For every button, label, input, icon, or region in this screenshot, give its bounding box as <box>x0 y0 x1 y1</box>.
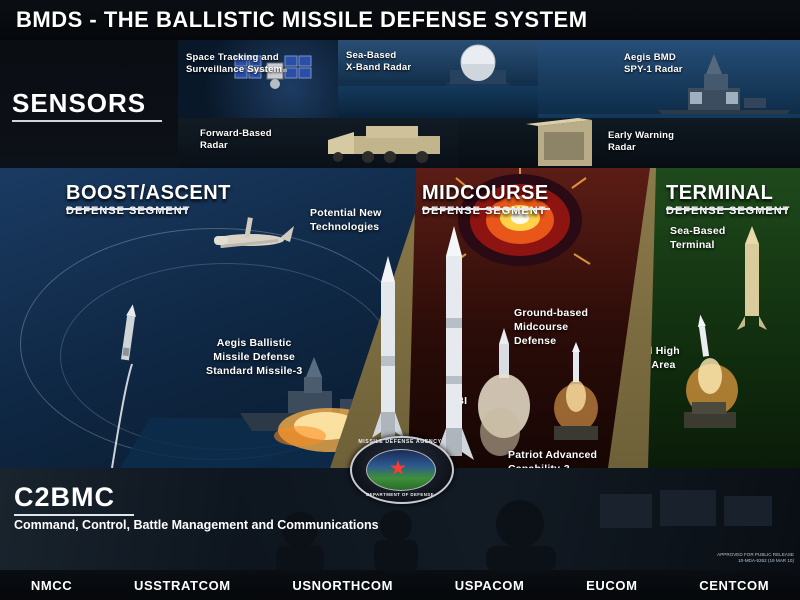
footer-item-centcom: CENTCOM <box>699 578 769 593</box>
segment-title-midcourse: MIDCOURSE DEFENSE SEGMENT <box>422 182 549 217</box>
footer-item-nmcc: NMCC <box>31 578 72 593</box>
sea-based-terminal-missile-icon <box>737 226 767 330</box>
sensor-caption-sbx: Sea-Based X-Band Radar <box>346 50 411 74</box>
sensors-heading-rule <box>12 120 162 122</box>
bmds-infographic: BMDS - THE BALLISTIC MISSILE DEFENSE SYS… <box>0 0 800 600</box>
footer-item-usstratcom: USSTRATCOM <box>134 578 231 593</box>
sensor-caption-stss: Space Tracking and Surveillance System <box>186 52 282 76</box>
c2bmc-rule <box>14 514 134 516</box>
sm3-missile-icon <box>358 256 418 456</box>
title-bar: BMDS - THE BALLISTIC MISSILE DEFENSE SYS… <box>0 0 800 40</box>
gbi-missile-icon <box>420 226 490 468</box>
sensors-heading: SENSORS <box>12 88 146 119</box>
segment-title-boost: BOOST/ASCENT DEFENSE SEGMENT <box>66 182 231 217</box>
mda-seal: MISSILE DEFENSE AGENCY DEPARTMENT OF DEF… <box>350 436 450 500</box>
asset-label-aegis-bmd-sm3: Aegis Ballistic Missile Defense Standard… <box>206 336 302 378</box>
seal-bottom-text: DEPARTMENT OF DEFENSE <box>350 492 450 497</box>
sensor-caption-aegis: Aegis BMD SPY-1 Radar <box>624 52 683 76</box>
asset-label-gmd: Ground-based Midcourse Defense <box>514 306 588 348</box>
seal-top-text: MISSILE DEFENSE AGENCY <box>350 439 450 445</box>
uav-icon <box>214 217 294 248</box>
defense-segments: BOOST/ASCENT DEFENSE SEGMENT Potential N… <box>0 168 800 468</box>
patriot-pac3-icon <box>554 342 598 440</box>
footer-item-eucom: EUCOM <box>586 578 637 593</box>
sensor-caption-fbr: Forward-Based Radar <box>200 128 272 152</box>
sensor-tile-forward-based-radar: Forward-Based Radar <box>178 118 458 168</box>
segment-rule-midcourse <box>422 208 550 210</box>
c2bmc-title: C2BMC <box>14 482 115 513</box>
sensors-band: SENSORS Space Tracking and S <box>0 40 800 168</box>
segment-rule-boost <box>66 208 188 210</box>
combatant-commands-footer: NMCC USSTRATCOM USNORTHCOM USPACOM EUCOM… <box>0 570 800 600</box>
footer-item-usnorthcom: USNORTHCOM <box>292 578 393 593</box>
segment-rule-terminal <box>666 208 788 210</box>
threat-missile-icon <box>120 304 138 361</box>
c2bmc-subtitle: Command, Control, Battle Management and … <box>14 518 379 532</box>
asset-label-pac3: Patriot Advanced Capability-3 <box>508 448 597 468</box>
sensor-tile-early-warning-radar: Early Warning Radar <box>458 118 800 168</box>
release-statement: APPROVED FOR PUBLIC RELEASE 10-MDA-5362 … <box>717 552 794 564</box>
thaad-launch-icon <box>684 314 738 428</box>
sensor-tile-sea-based-x-band-radar: Sea-Based X-Band Radar <box>338 40 538 118</box>
page-title: BMDS - THE BALLISTIC MISSILE DEFENSE SYS… <box>0 7 588 33</box>
sensor-tile-space-tracking-surveillance-system: Space Tracking and Surveillance System <box>178 40 338 118</box>
footer-item-uspacom: USPACOM <box>455 578 525 593</box>
asset-label-sea-based-terminal: Sea-Based Terminal <box>670 224 726 252</box>
asset-label-potential-new-technologies: Potential New Technologies <box>310 206 381 234</box>
segment-title-terminal: TERMINAL DEFENSE SEGMENT <box>666 182 790 217</box>
ocean <box>338 86 538 118</box>
sensor-caption-ewr: Early Warning Radar <box>608 130 674 154</box>
segment-terminal: TERMINAL DEFENSE SEGMENT Sea-Based Termi… <box>648 168 800 468</box>
